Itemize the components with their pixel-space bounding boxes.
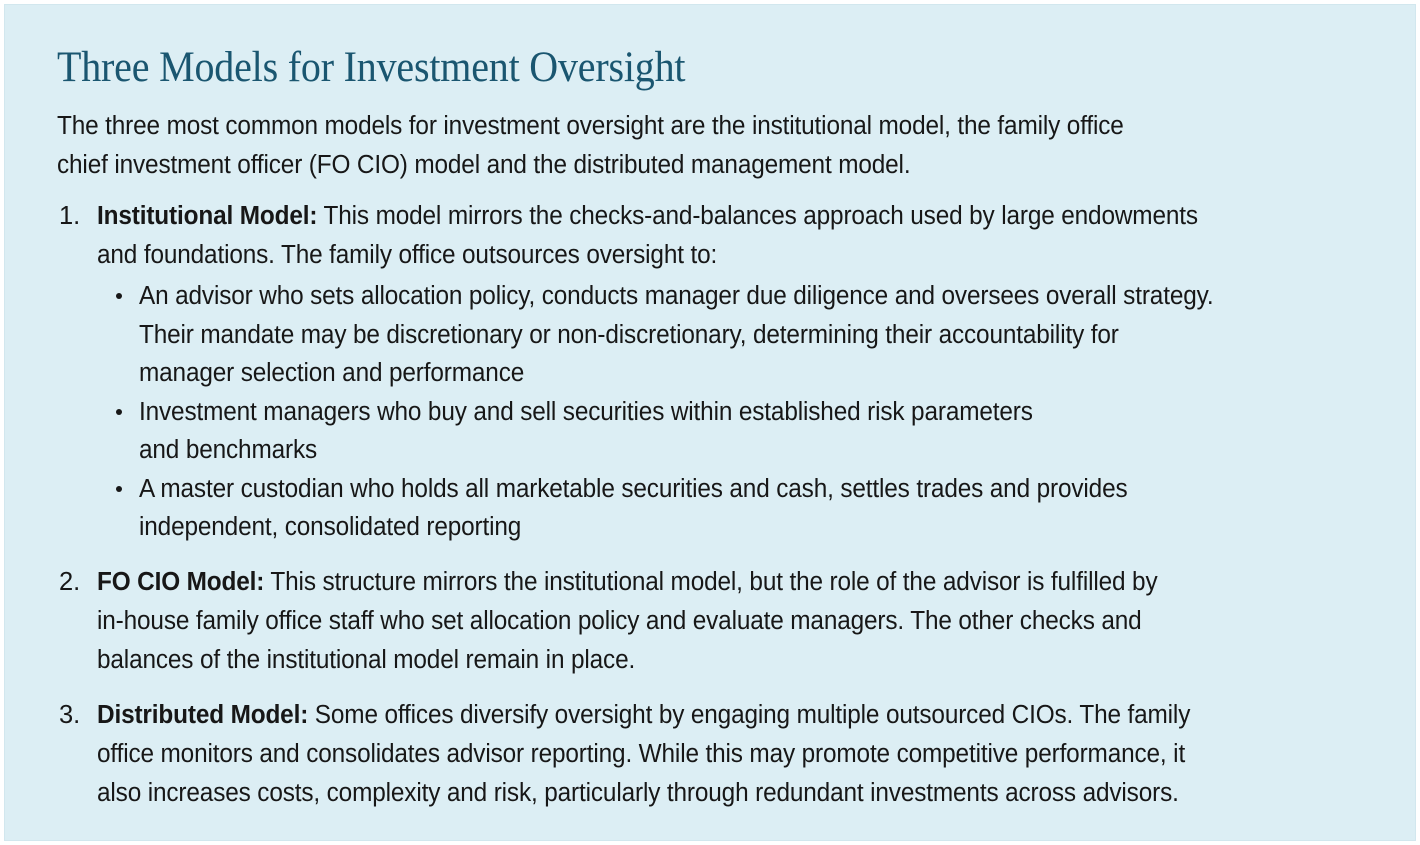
list-item-line: Distributed Model: Some offices diversif… (97, 696, 1378, 735)
list-item-lead: Distributed Model: (97, 701, 308, 729)
list-item-line: also increases costs, complexity and ris… (97, 774, 1378, 813)
intro-paragraph: The three most common models for investm… (57, 107, 1378, 185)
list-item-line: office monitors and consolidates advisor… (97, 735, 1378, 774)
list-item-line: in-house family office staff who set all… (97, 602, 1378, 641)
list-marker: 3. (59, 696, 80, 735)
list-item-line: FO CIO Model: This structure mirrors the… (97, 563, 1378, 602)
list-marker: 1. (59, 197, 80, 236)
bullet-line: manager selection and performance (139, 354, 1378, 393)
list-item-lead: Institutional Model: (97, 202, 317, 230)
bullet-line: A master custodian who holds all marketa… (139, 470, 1378, 509)
bullet-line: An advisor who sets allocation policy, c… (139, 277, 1378, 316)
list-marker: 2. (59, 563, 80, 602)
bullet-dot-icon (116, 293, 122, 299)
intro-line: chief investment officer (FO CIO) model … (57, 146, 1378, 185)
intro-line: The three most common models for investm… (57, 107, 1378, 146)
bullet-line: Investment managers who buy and sell sec… (139, 393, 1378, 432)
list-item-line-rest: Some offices diversify oversight by enga… (308, 701, 1190, 729)
list-item: 3. Distributed Model: Some offices diver… (57, 696, 1381, 813)
list-item: An advisor who sets allocation policy, c… (108, 277, 1381, 393)
page-title: Three Models for Investment Oversight (57, 43, 1288, 93)
bullet-text: A master custodian who holds all marketa… (139, 470, 1378, 547)
list-item-text: FO CIO Model: This structure mirrors the… (97, 563, 1378, 680)
list-item-line-rest: This model mirrors the checks-and-balanc… (317, 202, 1198, 230)
list-item-text: Distributed Model: Some offices diversif… (97, 696, 1378, 813)
list-item-text: Institutional Model: This model mirrors … (97, 197, 1378, 275)
list-item-line-rest: This structure mirrors the institutional… (264, 568, 1157, 596)
bullet-text: Investment managers who buy and sell sec… (139, 393, 1378, 470)
list-item-line: balances of the institutional model rema… (97, 641, 1378, 680)
bullet-line: and benchmarks (139, 431, 1378, 470)
bullet-text: An advisor who sets allocation policy, c… (139, 277, 1378, 393)
bullet-dot-icon (116, 486, 122, 492)
list-item: 1. Institutional Model: This model mirro… (57, 197, 1381, 547)
list-item: 2. FO CIO Model: This structure mirrors … (57, 563, 1381, 680)
list-item-line: Institutional Model: This model mirrors … (97, 197, 1378, 236)
callout-content: Three Models for Investment Oversight Th… (57, 43, 1381, 813)
list-item-lead: FO CIO Model: (97, 568, 264, 596)
bullet-line: Their mandate may be discretionary or no… (139, 316, 1378, 355)
list-item-line: and foundations. The family office outso… (97, 236, 1378, 275)
sub-bullet-list: An advisor who sets allocation policy, c… (97, 277, 1381, 547)
bullet-dot-icon (116, 409, 122, 415)
list-item: Investment managers who buy and sell sec… (108, 393, 1381, 470)
bullet-line: independent, consolidated reporting (139, 508, 1378, 547)
callout-panel: Three Models for Investment Oversight Th… (4, 4, 1416, 841)
models-list: 1. Institutional Model: This model mirro… (57, 197, 1381, 813)
list-item: A master custodian who holds all marketa… (108, 470, 1381, 547)
